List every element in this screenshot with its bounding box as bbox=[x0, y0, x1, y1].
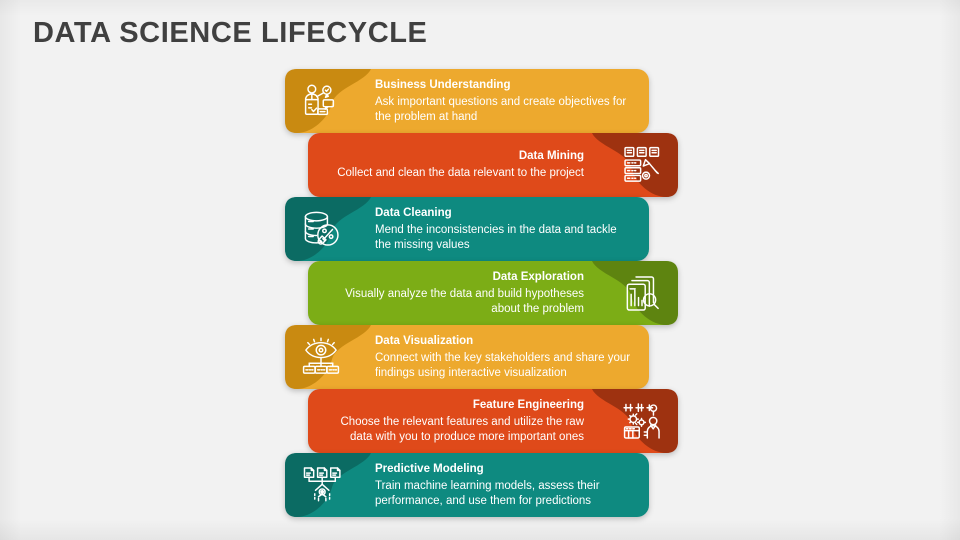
card-description: Train machine learning models, assess th… bbox=[375, 479, 635, 509]
card-description: Ask important questions and create objec… bbox=[375, 95, 635, 125]
card-icon-panel bbox=[285, 69, 371, 133]
business-understanding-icon bbox=[299, 79, 343, 123]
card-description: Visually analyze the data and build hypo… bbox=[322, 287, 584, 317]
feature-engineering-icon bbox=[620, 399, 664, 443]
card-description: Collect and clean the data relevant to t… bbox=[322, 166, 584, 181]
card-body: Data MiningCollect and clean the data re… bbox=[322, 133, 584, 197]
lifecycle-card[interactable]: Data VisualizationConnect with the key s… bbox=[285, 325, 649, 389]
lifecycle-card[interactable]: Feature EngineeringChoose the relevant f… bbox=[308, 389, 678, 453]
card-body: Predictive ModelingTrain machine learnin… bbox=[375, 453, 635, 517]
lifecycle-card[interactable]: Predictive ModelingTrain machine learnin… bbox=[285, 453, 649, 517]
lifecycle-card[interactable]: Data CleaningMend the inconsistencies in… bbox=[285, 197, 649, 261]
card-icon-panel bbox=[285, 325, 371, 389]
card-title: Data Mining bbox=[322, 149, 584, 164]
card-description: Choose the relevant features and utilize… bbox=[322, 415, 584, 445]
predictive-modeling-icon bbox=[299, 463, 343, 507]
card-title: Feature Engineering bbox=[322, 398, 584, 413]
card-description: Mend the inconsistencies in the data and… bbox=[375, 223, 635, 253]
card-icon-panel bbox=[285, 453, 371, 517]
card-body: Business UnderstandingAsk important ques… bbox=[375, 69, 635, 133]
card-title: Data Visualization bbox=[375, 334, 635, 349]
lifecycle-card[interactable]: Data MiningCollect and clean the data re… bbox=[308, 133, 678, 197]
card-icon-panel bbox=[592, 133, 678, 197]
card-title: Data Exploration bbox=[322, 270, 584, 285]
card-icon-panel bbox=[592, 261, 678, 325]
lifecycle-card[interactable]: Business UnderstandingAsk important ques… bbox=[285, 69, 649, 133]
data-visualization-icon bbox=[299, 335, 343, 379]
slide-canvas: DATA SCIENCE LIFECYCLE Business Understa… bbox=[0, 0, 960, 540]
lifecycle-card-list: Business UnderstandingAsk important ques… bbox=[0, 0, 960, 540]
card-body: Data VisualizationConnect with the key s… bbox=[375, 325, 635, 389]
data-exploration-icon bbox=[620, 271, 664, 315]
data-cleaning-icon bbox=[299, 207, 343, 251]
card-title: Predictive Modeling bbox=[375, 462, 635, 477]
card-body: Data ExplorationVisually analyze the dat… bbox=[322, 261, 584, 325]
card-description: Connect with the key stakeholders and sh… bbox=[375, 351, 635, 381]
card-icon-panel bbox=[285, 197, 371, 261]
card-title: Business Understanding bbox=[375, 78, 635, 93]
card-body: Data CleaningMend the inconsistencies in… bbox=[375, 197, 635, 261]
lifecycle-card[interactable]: Data ExplorationVisually analyze the dat… bbox=[308, 261, 678, 325]
card-icon-panel bbox=[592, 389, 678, 453]
card-body: Feature EngineeringChoose the relevant f… bbox=[322, 389, 584, 453]
card-title: Data Cleaning bbox=[375, 206, 635, 221]
data-mining-icon bbox=[620, 143, 664, 187]
